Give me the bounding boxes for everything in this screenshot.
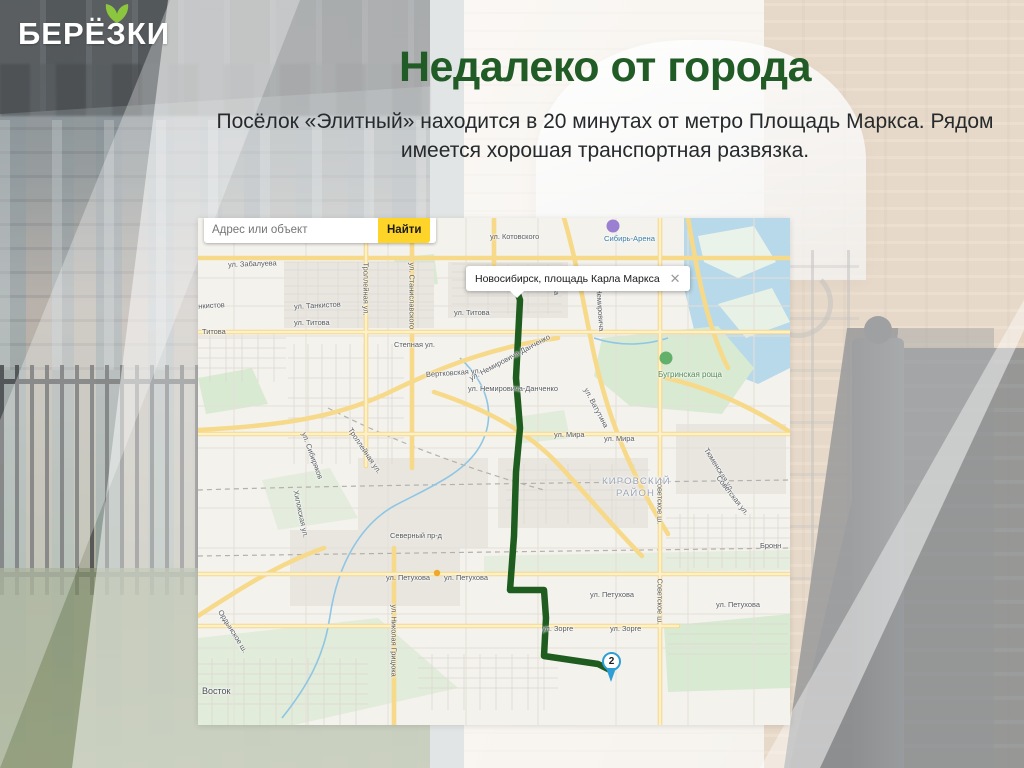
map-label: КИРОВСКИЙ: [602, 476, 671, 487]
map-label: Троллейная ул.: [362, 263, 371, 316]
map-label: ул. Петухова: [386, 573, 430, 582]
map-label: Сибирь-Арена: [604, 234, 655, 243]
poi-park-icon: [660, 352, 673, 365]
map-label: ул. Титова: [454, 308, 490, 317]
pin-tail-icon: [606, 668, 616, 682]
poi-arena-icon: [607, 220, 620, 233]
map-label: ул. Станиславского: [408, 263, 417, 330]
close-icon[interactable]: ✕: [670, 272, 681, 285]
map-label: ул. Мира: [604, 434, 634, 443]
brand-logo[interactable]: БЕРЁЗКИ: [18, 18, 170, 49]
map-label: Танкистов: [198, 300, 225, 311]
map-label: ул. Николая Грицюка: [390, 605, 399, 677]
map-label: ул. Немировича-Данченко: [468, 384, 558, 393]
brand-name: БЕРЁЗКИ: [18, 18, 170, 49]
map-canvas[interactable]: [198, 218, 790, 725]
search-button[interactable]: Найти: [378, 218, 430, 243]
map-label: РАЙОН: [616, 488, 655, 499]
poi-dot: [434, 570, 440, 576]
leaf-icon: [104, 4, 130, 24]
map-label: Степная ул.: [394, 340, 435, 349]
map-balloon[interactable]: Новосибирск, площадь Карла Маркса ✕: [466, 266, 690, 291]
map-label: ул. Котовского: [490, 232, 539, 241]
map-label: ул. Титова: [294, 318, 330, 327]
map-label: ул. Мира: [554, 430, 584, 439]
page-subtitle: Посёлок «Элитный» находится в 20 минутах…: [210, 108, 1000, 165]
map-label: ул. Петухова: [444, 573, 488, 582]
headings-block: Недалеко от города Посёлок «Элитный» нах…: [210, 44, 1000, 165]
map-label: ул. Петухова: [590, 590, 634, 599]
route-marker[interactable]: 2: [602, 652, 621, 671]
map-label: Титова: [202, 327, 226, 336]
page-title: Недалеко от города: [210, 44, 1000, 91]
map-label: Советское ш.: [656, 579, 665, 625]
map-label: Бронн: [760, 541, 781, 550]
map-label: ул. Зорге: [542, 624, 573, 633]
map-label: Восток: [202, 686, 230, 696]
map-label: ул. Зорге: [610, 624, 641, 633]
map-widget[interactable]: Найти Новосибирск, площадь Карла Маркса …: [198, 218, 790, 725]
map-label: Бугринская роща: [658, 370, 722, 379]
map-label: ул. Забалуева: [228, 258, 277, 269]
gate-post: [852, 338, 904, 768]
balloon-text: Новосибирск, площадь Карла Маркса: [475, 273, 660, 285]
map-label: Северный пр-д: [390, 531, 442, 540]
map-label: ул. Петухова: [716, 600, 760, 609]
